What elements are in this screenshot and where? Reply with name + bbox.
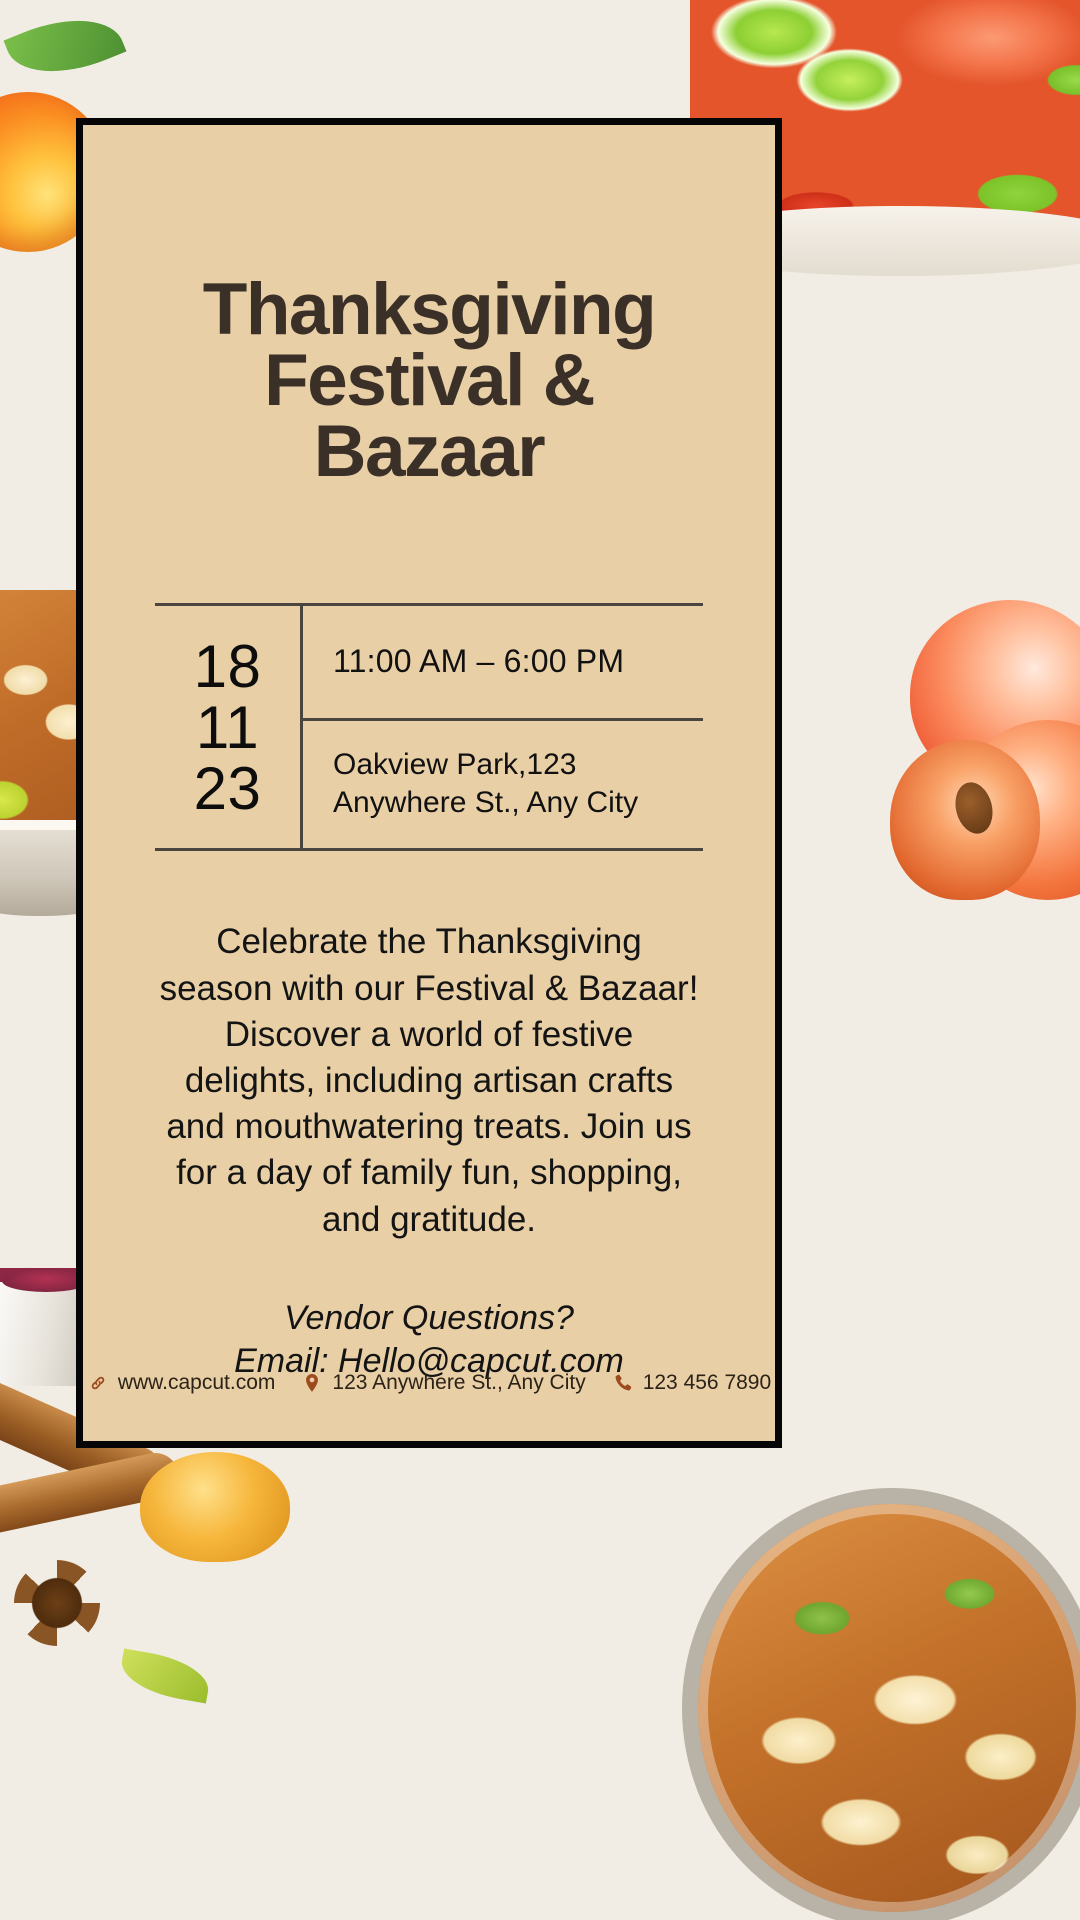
title-line: Thanksgiving [117,275,741,346]
title-line: Bazaar [117,417,741,488]
contact-address-label: 123 Anywhere St., Any City [332,1371,585,1395]
date-month: 11 [196,697,259,758]
honey-illustration [140,1452,290,1562]
date-year: 23 [194,758,262,819]
poutine-pan-illustration [682,1488,1080,1920]
vendor-questions: Vendor Questions? Email: Hello@capcut.co… [117,1297,741,1383]
page-title: Thanksgiving Festival & Bazaar [117,275,741,487]
event-time: 11:00 AM – 6:00 PM [333,643,624,680]
contact-website-label: www.capcut.com [118,1371,276,1395]
event-time-row: 11:00 AM – 6:00 PM [303,606,703,720]
date-day: 18 [194,636,262,697]
location-pin-icon [301,1372,323,1394]
title-line: Festival & [117,346,741,417]
contact-phone-label: 123 456 7890 [643,1371,771,1395]
star-anise-illustration [14,1560,100,1646]
venue-line: Oakview Park,123 [333,748,576,781]
contact-website[interactable]: www.capcut.com [87,1371,276,1395]
event-venue-row: Oakview Park,123 Anywhere St., Any City [303,721,703,849]
venue-line: Anywhere St., Any City [333,786,638,819]
poster-card: Thanksgiving Festival & Bazaar 18 11 23 … [76,118,782,1448]
contact-bar: www.capcut.com 123 Anywhere St., Any Cit… [83,1371,775,1395]
leaf-illustration [4,0,127,93]
event-description: Celebrate the Thanksgiving season with o… [157,919,701,1242]
event-info-column: 11:00 AM – 6:00 PM Oakview Park,123 Anyw… [303,606,703,848]
contact-phone[interactable]: 123 456 7890 [612,1371,771,1395]
contact-address[interactable]: 123 Anywhere St., Any City [301,1371,585,1395]
phone-icon [612,1372,634,1394]
event-details-table: 18 11 23 11:00 AM – 6:00 PM Oakview Park… [155,603,703,851]
vendor-question-line: Vendor Questions? [117,1297,741,1340]
link-icon [87,1372,109,1394]
leaf-illustration [117,1648,213,1703]
event-venue: Oakview Park,123 Anywhere St., Any City [333,746,638,822]
event-date: 18 11 23 [155,606,303,848]
